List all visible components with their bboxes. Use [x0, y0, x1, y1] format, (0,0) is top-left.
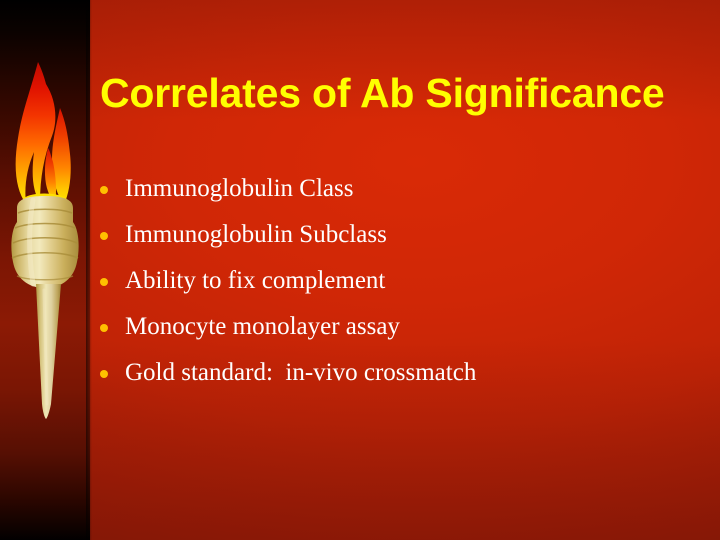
list-item-label: Monocyte monolayer assay — [125, 312, 400, 342]
list-item: Immunoglobulin Subclass — [100, 212, 700, 258]
torch-handle — [36, 284, 61, 419]
slide-canvas: Correlates of Ab Significance Immunoglob… — [0, 0, 720, 540]
list-item: Ability to fix complement — [100, 258, 700, 304]
flame-icon — [16, 62, 71, 214]
bullet-marker-icon — [100, 278, 108, 286]
torch-icon — [0, 0, 90, 540]
list-item-label: Gold standard: in-vivo crossmatch — [125, 358, 476, 388]
list-item: Immunoglobulin Class — [100, 166, 700, 212]
list-item-label: Immunoglobulin Subclass — [125, 220, 387, 250]
bullet-marker-icon — [100, 370, 108, 378]
bullet-list: Immunoglobulin Class Immunoglobulin Subc… — [100, 166, 700, 396]
bullet-marker-icon — [100, 186, 108, 194]
list-item: Gold standard: in-vivo crossmatch — [100, 350, 700, 396]
bullet-marker-icon — [100, 324, 108, 332]
bullet-marker-icon — [100, 232, 108, 240]
list-item: Monocyte monolayer assay — [100, 304, 700, 350]
list-item-label: Ability to fix complement — [125, 266, 385, 296]
page-title: Correlates of Ab Significance — [100, 69, 700, 117]
list-item-label: Immunoglobulin Class — [125, 174, 353, 204]
torch-head — [11, 196, 78, 288]
